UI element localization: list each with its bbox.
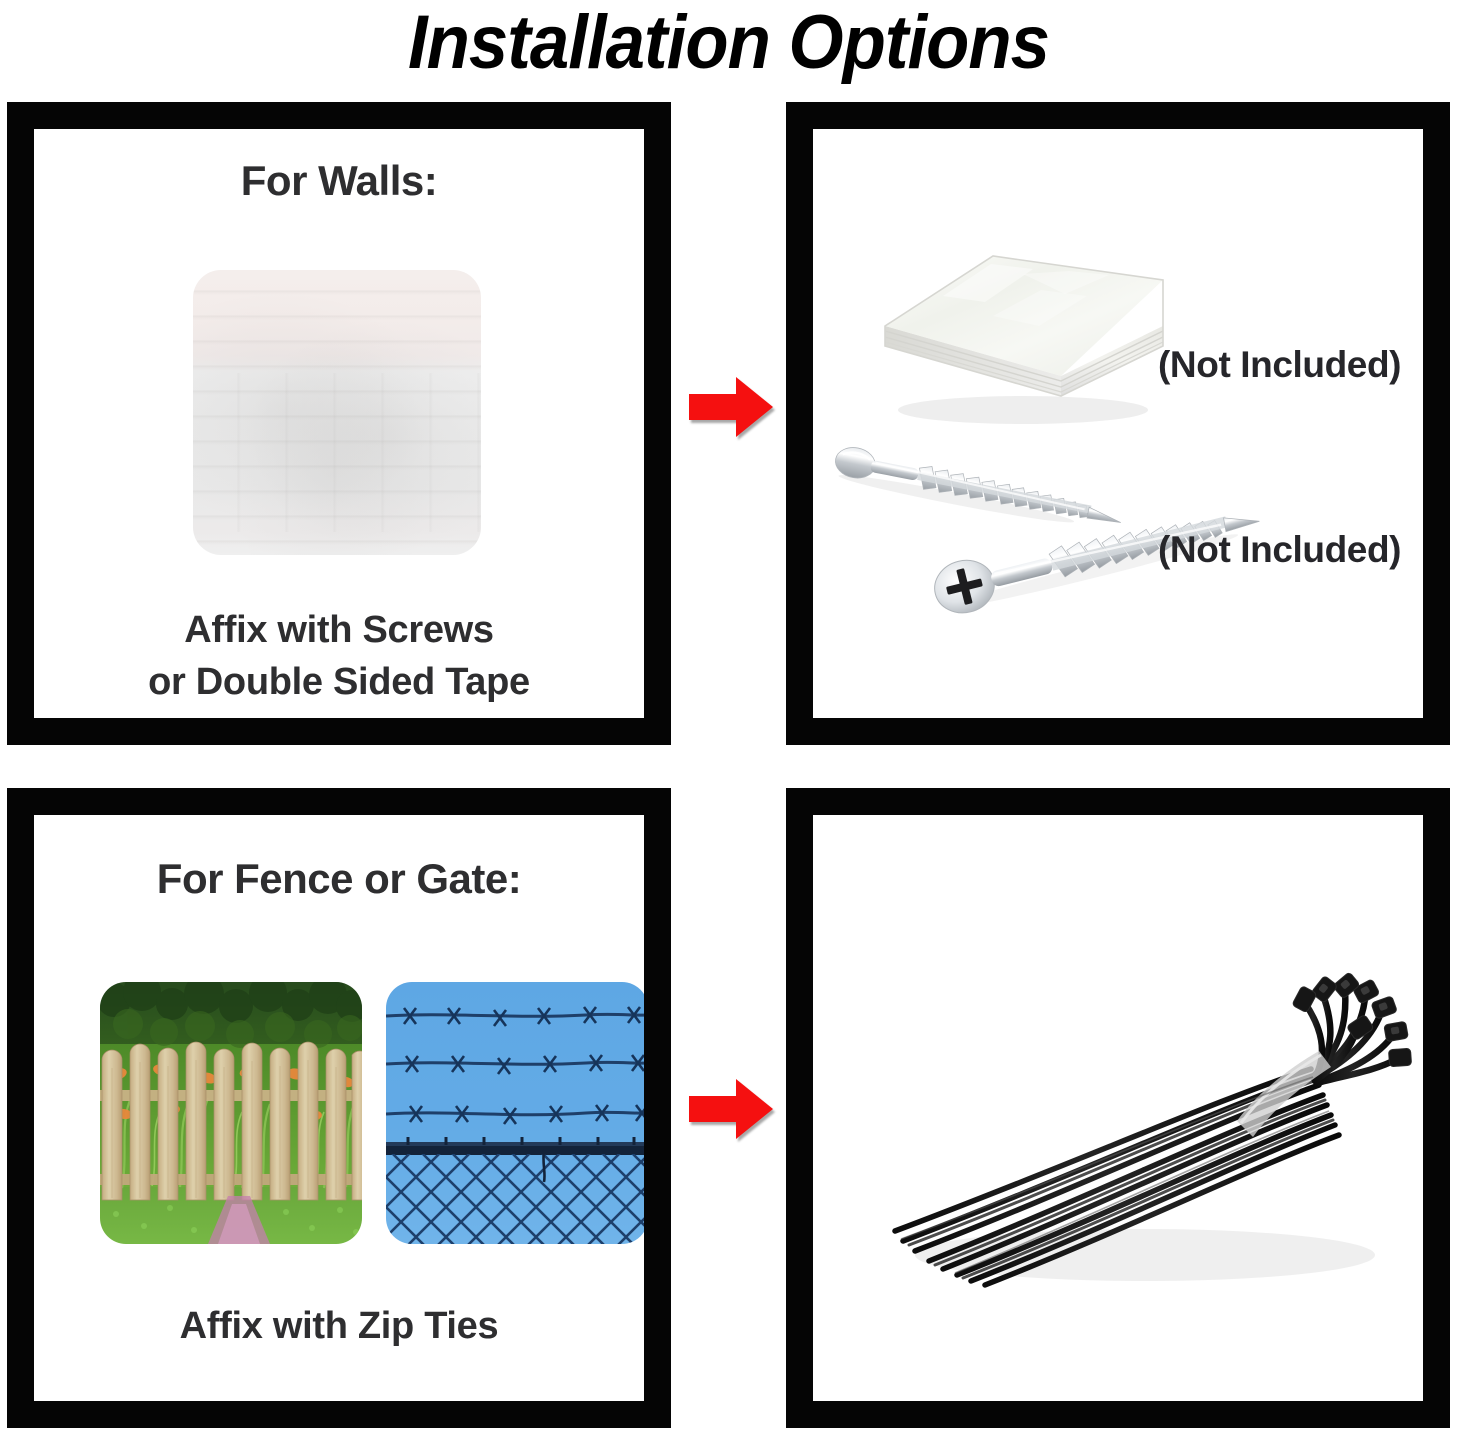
red-right-arrow-icon-2 <box>689 1079 773 1139</box>
panel-for-walls-inner: For Walls: Affix with Screws or Double S… <box>34 129 644 718</box>
screws-not-included-label: (Not Included) <box>1158 529 1401 571</box>
wall-texture-swatch <box>193 270 481 555</box>
panel-for-fence-inner: For Fence or Gate: <box>34 815 644 1401</box>
fence-caption: Affix with Zip Ties <box>34 1305 644 1348</box>
panel-hardware-inner: (Not Included) <box>813 129 1423 718</box>
panel-hardware: (Not Included) <box>786 102 1450 745</box>
picket-fence-photo <box>100 982 362 1244</box>
double-sided-tape-stack-image <box>873 234 1173 429</box>
brick-mottle-shading <box>193 270 481 555</box>
for-walls-heading: For Walls: <box>34 157 644 205</box>
walls-caption-line-1: Affix with Screws <box>34 609 644 652</box>
chain-link-fence-photo <box>386 982 644 1244</box>
zip-tie-bundle-image <box>845 925 1405 1325</box>
walls-caption-line-2: or Double Sided Tape <box>34 661 644 704</box>
for-fence-heading: For Fence or Gate: <box>34 855 644 903</box>
tape-not-included-label: (Not Included) <box>1158 344 1401 386</box>
panel-for-walls: For Walls: Affix with Screws or Double S… <box>7 102 671 745</box>
panel-zip-ties: (Not Included) <box>786 788 1450 1428</box>
panel-for-fence-or-gate: For Fence or Gate: <box>7 788 671 1428</box>
page-title: Installation Options <box>51 0 1406 88</box>
red-right-arrow-icon <box>689 377 773 437</box>
screw-lower-image <box>923 509 1268 634</box>
panel-zip-ties-inner: (Not Included) <box>813 815 1423 1401</box>
